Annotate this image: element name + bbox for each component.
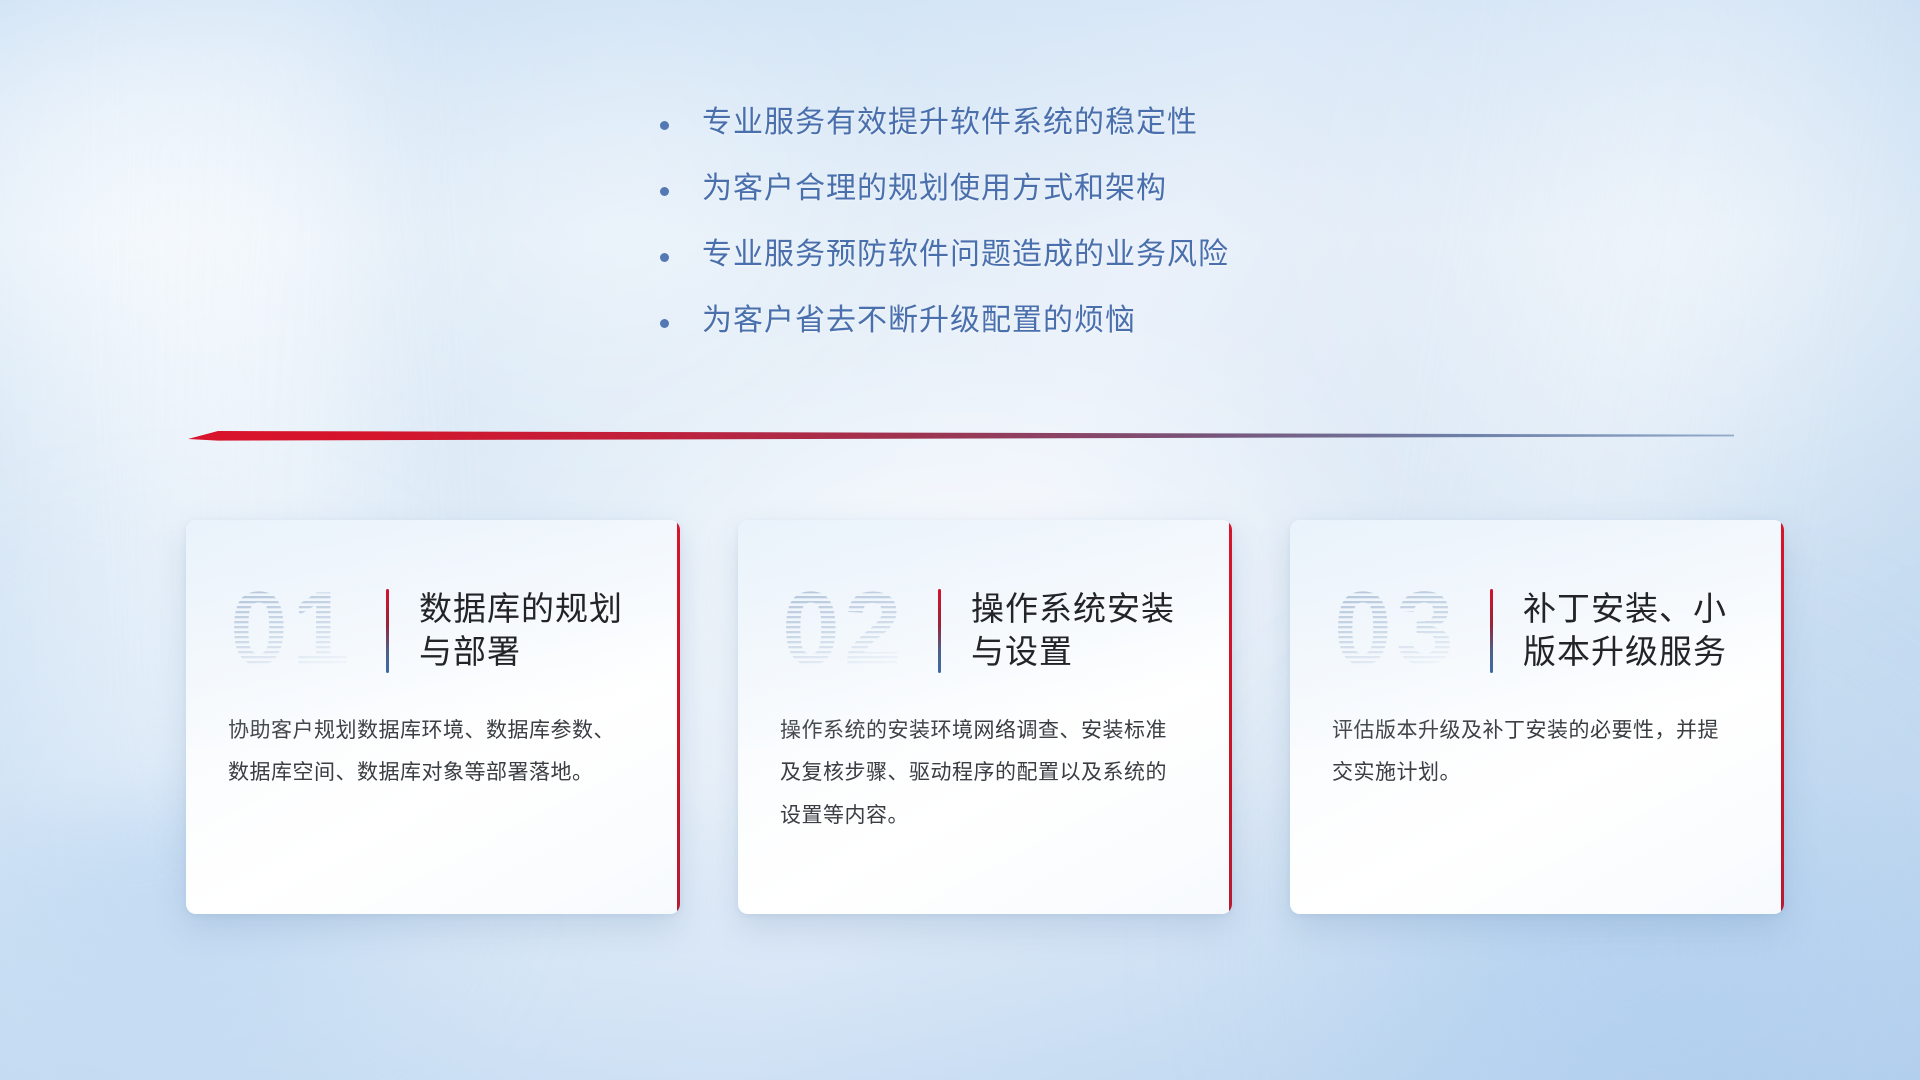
bullet-label: 为客户合理的规划使用方式和架构 [702, 174, 1167, 204]
bullet-dot-icon [660, 187, 669, 196]
section-divider [188, 425, 1734, 447]
card-accent-rule [938, 589, 941, 673]
card-description: 操作系统的安装环境网络调查、安装标准及复核步骤、驱动程序的配置以及系统的设置等内… [738, 698, 1232, 837]
card-accent-rule [1490, 589, 1493, 673]
bullet-label: 专业服务预防软件问题造成的业务风险 [702, 240, 1229, 270]
service-card-list: 01 数据库的规划 与部署 协助客户规划数据库环境、数据库参数、数据库空间、数据… [186, 520, 1784, 914]
bullet-dot-icon [660, 253, 669, 262]
bullet-dot-icon [660, 319, 669, 328]
card-title: 补丁安装、小 版本升级服务 [1523, 588, 1727, 674]
striped-number-icon: 03 [1332, 576, 1482, 680]
service-card[interactable]: 01 数据库的规划 与部署 协助客户规划数据库环境、数据库参数、数据库空间、数据… [186, 520, 680, 914]
bullet-dot-icon [660, 121, 669, 130]
bullet-item: 为客户合理的规划使用方式和架构 [660, 174, 1420, 204]
svg-text:01: 01 [230, 576, 354, 680]
card-header: 02 操作系统安装 与设置 [738, 520, 1232, 698]
service-card[interactable]: 02 操作系统安装 与设置 操作系统的安装环境网络调查、安装标准及复核步骤、驱动… [738, 520, 1232, 914]
bullet-item: 为客户省去不断升级配置的烦恼 [660, 306, 1420, 336]
card-title: 操作系统安装 与设置 [971, 588, 1175, 674]
tapered-rule-icon [188, 425, 1734, 447]
striped-number-icon: 02 [780, 576, 930, 680]
bullet-list: 专业服务有效提升软件系统的稳定性 为客户合理的规划使用方式和架构 专业服务预防软… [660, 108, 1420, 372]
svg-text:02: 02 [782, 576, 906, 680]
bullet-label: 专业服务有效提升软件系统的稳定性 [702, 108, 1198, 138]
card-description: 协助客户规划数据库环境、数据库参数、数据库空间、数据库对象等部署落地。 [186, 698, 680, 795]
bullet-label: 为客户省去不断升级配置的烦恼 [702, 306, 1136, 336]
card-header: 01 数据库的规划 与部署 [186, 520, 680, 698]
card-number-striped: 02 [780, 576, 930, 680]
card-description: 评估版本升级及补丁安装的必要性，并提交实施计划。 [1290, 698, 1784, 795]
card-header: 03 补丁安装、小 版本升级服务 [1290, 520, 1784, 698]
card-title: 数据库的规划 与部署 [419, 588, 623, 674]
card-number-striped: 03 [1332, 576, 1482, 680]
svg-text:03: 03 [1334, 576, 1458, 680]
striped-number-icon: 01 [228, 576, 378, 680]
card-number-striped: 01 [228, 576, 378, 680]
bullet-item: 专业服务预防软件问题造成的业务风险 [660, 240, 1420, 270]
service-card[interactable]: 03 补丁安装、小 版本升级服务 评估版本升级及补丁安装的必要性，并提交实施计划… [1290, 520, 1784, 914]
bullet-item: 专业服务有效提升软件系统的稳定性 [660, 108, 1420, 138]
card-accent-rule [386, 589, 389, 673]
